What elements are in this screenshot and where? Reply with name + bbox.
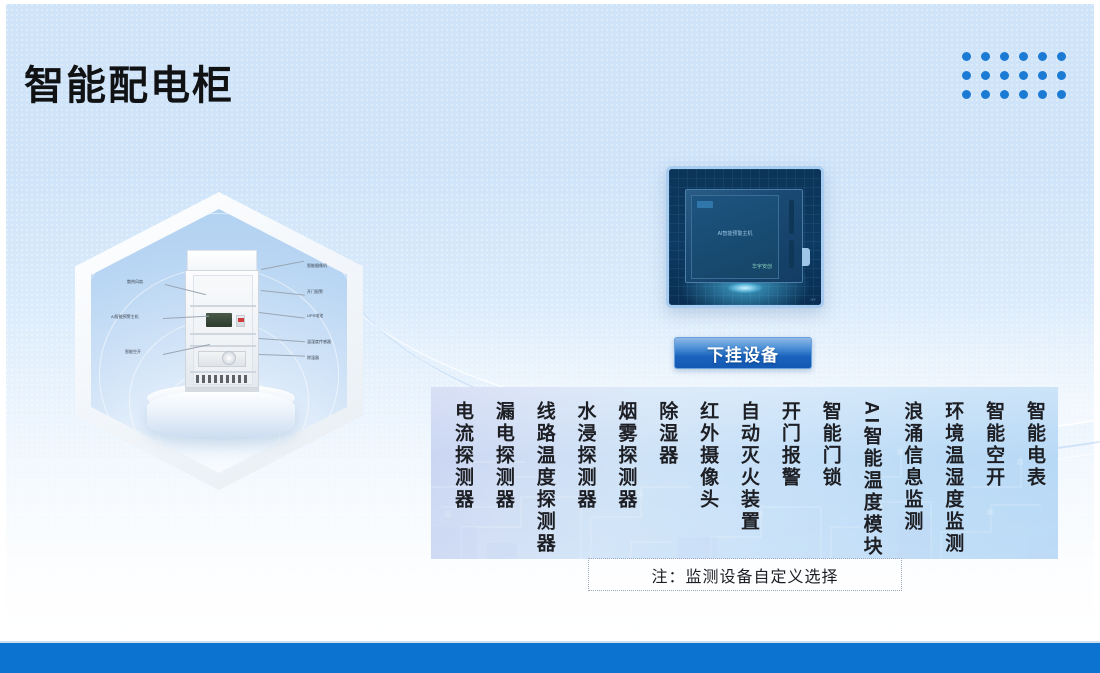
annotation-label: 开门报警 — [307, 290, 323, 294]
ai-host-module — [206, 313, 232, 327]
grid-dot — [1019, 52, 1028, 61]
cabinet-shelf — [190, 371, 256, 373]
cabinet-body — [185, 270, 259, 388]
grid-dot — [1000, 52, 1009, 61]
grid-dot — [981, 52, 990, 61]
annotation-label: 除湿器 — [307, 356, 319, 360]
device-list-panel: 智能电表 智能空开 环境温湿度监测 浪涌信息监测 AI智能温度模块 智能门锁 开… — [431, 387, 1058, 559]
bottom-bar — [0, 643, 1100, 673]
cabinet-interior — [193, 275, 253, 385]
device-front-panel: AI智能预警主机 华宇安创 — [691, 195, 779, 279]
grid-dot — [1038, 90, 1047, 99]
distribution-cabinet — [185, 250, 259, 392]
device-label: 红外摄像头 — [676, 401, 717, 511]
device-label: 烟雾探测器 — [595, 401, 636, 511]
device-vent — [789, 200, 794, 234]
podium — [147, 390, 295, 440]
annotation-label: 智能摄像机 — [307, 264, 327, 268]
grid-dot — [1057, 52, 1066, 61]
device-label: 除湿器 — [635, 401, 676, 467]
grid-dot — [1057, 71, 1066, 80]
device-label: 线路温度探测器 — [513, 401, 554, 555]
device-badge — [697, 201, 713, 208]
device-label-row: 智能电表 智能空开 环境温湿度监测 浪涌信息监测 AI智能温度模块 智能门锁 开… — [431, 387, 1058, 559]
grid-dot — [962, 52, 971, 61]
page-title: 智能配电柜 — [24, 66, 234, 106]
cabinet-top-panel — [187, 250, 257, 270]
cabinet-shelf — [190, 305, 256, 307]
cabinet-shelf — [190, 333, 256, 335]
device-label: 浪涌信息监测 — [881, 401, 922, 533]
grid-dot — [1038, 71, 1047, 80]
dot-grid-decoration — [962, 52, 1076, 109]
device-label: AI智能温度模块 — [840, 401, 881, 558]
grid-dot — [1038, 52, 1047, 61]
device-label: 智能空开 — [962, 401, 1003, 489]
device-side-connector — [802, 248, 810, 266]
grid-dot — [1019, 71, 1028, 80]
device-label: 水浸探测器 — [554, 401, 595, 511]
device-label: 环境温湿度监测 — [921, 401, 962, 555]
grid-dot — [1000, 71, 1009, 80]
grid-dot — [962, 71, 971, 80]
note-box: 注：监测设备自定义选择 — [588, 558, 902, 591]
device-label: 开门报警 — [758, 401, 799, 489]
device-logo-text: 华宇安创 — [752, 263, 772, 270]
device-corner-mark: HY — [810, 297, 816, 302]
device-label: 智能门锁 — [799, 401, 840, 489]
device-enclosure: AI智能预警主机 华宇安创 — [685, 189, 803, 283]
annotation-label: UPS电池 — [307, 314, 323, 318]
device-vent — [789, 240, 794, 268]
fan-icon — [222, 351, 236, 365]
device-label: 自动灭火装置 — [717, 401, 758, 533]
device-label: 漏电探测器 — [472, 401, 513, 511]
device-glow — [728, 283, 762, 293]
annotation-label: 温湿度传感器 — [307, 340, 331, 344]
grid-dot — [962, 90, 971, 99]
device-screen-label: AI智能预警主机 — [718, 230, 753, 237]
grid-dot — [1019, 90, 1028, 99]
annotation-label: AI智能预警主机 — [111, 315, 139, 319]
grid-dot — [1000, 90, 1009, 99]
annotation-label: 智能空开 — [125, 350, 141, 354]
subsystem-heading-pill[interactable]: 下挂设备 — [674, 337, 812, 369]
annotation-label: 散热风扇 — [127, 280, 143, 284]
cable-bundle — [196, 375, 250, 383]
cabinet-illustration: 智能摄像机 散热风扇 开门报警 AI智能预警主机 UPS电池 温湿度传感器 智能… — [75, 192, 363, 490]
device-label: 智能电表 — [1003, 401, 1044, 489]
grid-dot — [1057, 90, 1066, 99]
grid-dot — [981, 71, 990, 80]
cabinet-base — [185, 388, 259, 392]
indicator-module — [236, 315, 245, 327]
grid-dot — [981, 90, 990, 99]
device-label: 电流探测器 — [431, 401, 472, 511]
device-photo: AI智能预警主机 华宇安创 HY — [666, 166, 824, 308]
slide-root: 智能配电柜 — [0, 0, 1100, 673]
